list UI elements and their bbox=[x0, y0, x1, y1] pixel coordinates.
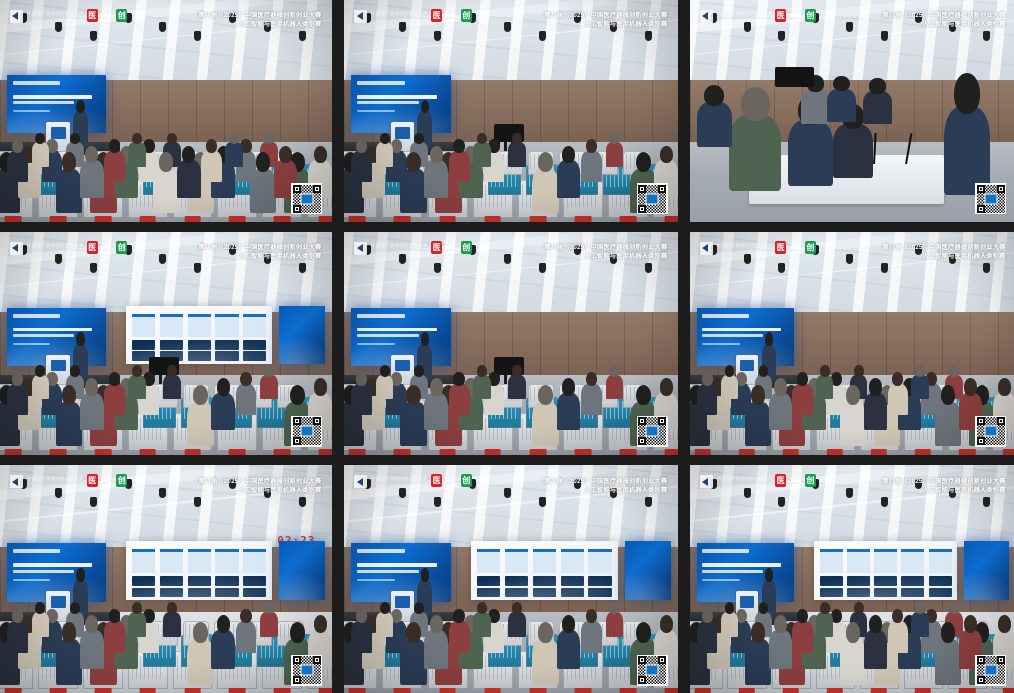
ceiling-spotlight bbox=[229, 479, 236, 489]
person-head bbox=[562, 615, 575, 633]
person-head bbox=[453, 609, 465, 624]
person-head bbox=[264, 133, 274, 144]
ceiling-spotlight bbox=[125, 245, 132, 255]
audience-person bbox=[308, 630, 332, 669]
chair-number-tag bbox=[1003, 688, 1014, 693]
slide-thumbnail bbox=[929, 576, 952, 586]
ceiling-spotlight bbox=[264, 22, 271, 32]
ceiling-spotlight bbox=[778, 31, 785, 41]
chair-number-tag bbox=[959, 688, 975, 693]
person-head bbox=[217, 615, 230, 633]
chair-number-tag bbox=[50, 688, 67, 693]
person-head bbox=[477, 365, 487, 376]
ceiling-spotlight bbox=[364, 245, 371, 255]
slide-thumbnail bbox=[215, 340, 238, 349]
person-head bbox=[85, 615, 98, 633]
slide-column-card bbox=[820, 549, 843, 573]
chair-number-tag bbox=[619, 688, 636, 693]
person-head bbox=[702, 372, 713, 386]
slide-thumbnail bbox=[160, 576, 183, 586]
audience-person bbox=[7, 151, 28, 182]
ceiling-spotlight bbox=[881, 497, 888, 507]
audience-person bbox=[376, 375, 394, 400]
person-head bbox=[132, 365, 142, 376]
ceiling-spotlight bbox=[778, 497, 785, 507]
person-head bbox=[512, 365, 522, 376]
gallery-photo[interactable]: 中国医疗器械创新创业大赛China Medical Device Innovat… bbox=[0, 232, 332, 455]
audience-person bbox=[697, 102, 733, 146]
chair-number-tag bbox=[827, 688, 843, 693]
screen-text-line bbox=[13, 110, 51, 112]
person-head bbox=[512, 133, 522, 144]
person-head bbox=[62, 622, 77, 643]
person-head bbox=[759, 365, 769, 376]
slide-column-card bbox=[243, 549, 266, 573]
chair-number-tag bbox=[274, 688, 291, 693]
person-head bbox=[774, 615, 787, 633]
ceiling-spotlight bbox=[229, 13, 236, 23]
ceiling-spotlight bbox=[434, 263, 441, 273]
screen-text-line bbox=[13, 328, 93, 331]
chair-number-tag bbox=[619, 449, 636, 455]
person-head bbox=[797, 609, 808, 624]
slide-thumbnail bbox=[820, 588, 843, 598]
slide-thumbnail bbox=[588, 588, 612, 598]
audience-person bbox=[128, 142, 146, 166]
ceiling-spotlight bbox=[434, 497, 441, 507]
slide-thumbnail bbox=[243, 351, 266, 360]
gallery-photo[interactable]: 中国医疗器械创新创业大赛China Medical Device Innovat… bbox=[344, 465, 678, 693]
slide-thumbnail bbox=[215, 576, 238, 586]
audience-person bbox=[581, 384, 602, 415]
slide-thumbnail bbox=[847, 588, 870, 598]
chair-number-tag bbox=[665, 216, 678, 222]
person-head bbox=[430, 615, 443, 633]
ceiling-spotlight bbox=[434, 31, 441, 41]
person-head bbox=[702, 609, 713, 624]
gallery-photo[interactable]: 中国医疗器械创新创业大赛China Medical Device Innovat… bbox=[0, 0, 332, 222]
person-head bbox=[751, 385, 766, 406]
person-head bbox=[477, 133, 487, 144]
audience-person bbox=[128, 612, 146, 637]
slide-thumbnail bbox=[132, 588, 155, 598]
speaker-head bbox=[421, 568, 430, 582]
chair-number-tag bbox=[783, 688, 799, 693]
chair-number-tag bbox=[349, 688, 366, 693]
audience-person bbox=[187, 402, 214, 447]
photo-scene bbox=[690, 0, 1014, 222]
person-head bbox=[964, 615, 977, 633]
slide-column-card bbox=[188, 549, 211, 573]
audience-person bbox=[211, 630, 235, 669]
ceiling-spotlight bbox=[881, 31, 888, 41]
screen-text-line bbox=[357, 334, 419, 337]
screen-text-line bbox=[357, 570, 419, 573]
audience-person bbox=[606, 142, 624, 166]
chair-number-tag bbox=[349, 449, 366, 455]
audience-person bbox=[424, 160, 448, 198]
person-head bbox=[660, 378, 673, 395]
person-head bbox=[167, 365, 177, 376]
screen-text-line bbox=[357, 81, 405, 85]
slide-thumbnail bbox=[588, 576, 612, 586]
ceiling-spotlight bbox=[399, 254, 406, 264]
person-head bbox=[62, 385, 77, 406]
chair-number-tag bbox=[95, 449, 112, 455]
person-head bbox=[725, 602, 735, 614]
chair-number-tag bbox=[139, 688, 156, 693]
ceiling-spotlight bbox=[915, 245, 922, 255]
slide-column-card bbox=[215, 549, 238, 573]
ceiling-spotlight bbox=[504, 488, 511, 498]
chair-number-tag bbox=[959, 449, 975, 455]
audience-person bbox=[177, 160, 201, 198]
ceiling-spotlight bbox=[645, 31, 652, 41]
ceiling-spotlight bbox=[610, 488, 617, 498]
ceiling-spotlight bbox=[159, 488, 166, 498]
audience-person bbox=[508, 142, 526, 166]
audience-person bbox=[201, 151, 222, 182]
audience-person bbox=[816, 612, 833, 637]
photo-scene bbox=[344, 232, 678, 455]
audience-person bbox=[400, 639, 427, 685]
audience-person bbox=[532, 639, 559, 685]
person-head bbox=[941, 622, 956, 643]
person-head bbox=[35, 133, 45, 144]
audience-person bbox=[745, 639, 771, 685]
ceiling-spotlight bbox=[710, 13, 717, 23]
video-camera bbox=[775, 67, 814, 87]
person-head bbox=[512, 602, 522, 614]
gallery-photo[interactable]: 02:23中国医疗器械创新创业大赛China Medical Device In… bbox=[0, 465, 332, 693]
person-head bbox=[406, 385, 421, 406]
chair-number-tag bbox=[619, 216, 636, 222]
screen-text-line bbox=[13, 579, 51, 581]
slide-thumbnail bbox=[820, 576, 843, 586]
slide-column-card bbox=[160, 314, 183, 337]
chair-number-tag bbox=[871, 688, 887, 693]
audience-person bbox=[792, 621, 812, 653]
ceiling-spotlight bbox=[194, 497, 201, 507]
ceiling-spotlight bbox=[364, 13, 371, 23]
slide-thumbnail bbox=[215, 588, 238, 598]
ceiling-spotlight bbox=[881, 263, 888, 273]
audience-person bbox=[581, 621, 602, 653]
ceiling-spotlight bbox=[299, 263, 306, 273]
audience-person bbox=[935, 402, 961, 447]
audience-person bbox=[654, 393, 678, 431]
audience-person bbox=[449, 384, 470, 415]
person-head bbox=[869, 378, 882, 395]
screen-text-line bbox=[702, 563, 780, 567]
audience-person bbox=[697, 384, 717, 415]
audience-person bbox=[424, 630, 448, 669]
ceiling-spotlight bbox=[744, 254, 751, 264]
audience-person bbox=[376, 142, 394, 166]
screen-text-line bbox=[13, 343, 51, 345]
chair-number-tag bbox=[394, 216, 411, 222]
audience-person bbox=[308, 160, 332, 198]
person-head bbox=[229, 133, 239, 144]
person-head bbox=[915, 365, 925, 376]
chair-number-tag bbox=[484, 688, 501, 693]
presentation-slide-screen bbox=[126, 541, 272, 601]
slide-thumbnail bbox=[847, 576, 870, 586]
audience-person bbox=[473, 375, 491, 400]
ceiling-spotlight bbox=[744, 488, 751, 498]
chair-number-tag bbox=[665, 449, 678, 455]
person-head bbox=[70, 365, 80, 376]
person-head bbox=[562, 378, 575, 395]
chair-number-tag bbox=[484, 216, 501, 222]
person-head bbox=[217, 378, 230, 395]
ceiling-spotlight bbox=[55, 22, 62, 32]
ceiling-spotlight bbox=[744, 22, 751, 32]
photo-scene bbox=[690, 232, 1014, 455]
chair-number-tag bbox=[319, 449, 332, 455]
gallery-photo[interactable]: 中国医疗器械创新创业大赛China Medical Device Innovat… bbox=[344, 232, 678, 455]
person-head bbox=[62, 152, 77, 172]
audience-person bbox=[449, 621, 470, 653]
ceiling-spotlight bbox=[539, 31, 546, 41]
audience-person bbox=[864, 630, 887, 669]
audience-person bbox=[911, 612, 928, 637]
ceiling-spotlight bbox=[20, 479, 27, 489]
audience-person bbox=[351, 621, 372, 653]
audience-person bbox=[351, 384, 372, 415]
person-head bbox=[833, 76, 849, 91]
audience-person bbox=[557, 393, 581, 431]
person-head bbox=[240, 372, 252, 386]
audience-person bbox=[351, 151, 372, 182]
presentation-slide-screen bbox=[814, 541, 957, 601]
person-head bbox=[453, 139, 465, 153]
audience-person bbox=[769, 393, 792, 431]
gallery-photo[interactable]: 中国医疗器械创新创业大赛China Medical Device Innovat… bbox=[344, 0, 678, 222]
audience-person bbox=[260, 375, 278, 400]
audience-person bbox=[104, 384, 125, 415]
person-head bbox=[414, 602, 424, 614]
audience-person bbox=[424, 393, 448, 431]
presentation-slide-screen bbox=[471, 541, 618, 601]
person-head bbox=[586, 372, 598, 386]
slide-column-card bbox=[533, 549, 557, 573]
audience-person bbox=[56, 639, 83, 685]
screen-text-line bbox=[357, 343, 395, 345]
ceiling-spotlight bbox=[574, 479, 581, 489]
chair-number-tag bbox=[915, 688, 931, 693]
audience-person bbox=[557, 630, 581, 669]
ceiling-spotlight bbox=[399, 22, 406, 32]
screen-text-line bbox=[702, 549, 749, 553]
ceiling-spotlight bbox=[20, 13, 27, 23]
person-head bbox=[751, 622, 766, 643]
chair-number-tag bbox=[394, 688, 411, 693]
person-head bbox=[954, 73, 980, 114]
ceiling-spotlight bbox=[710, 245, 717, 255]
side-led-screen bbox=[625, 541, 672, 601]
ceiling-spotlight bbox=[90, 31, 97, 41]
chair-number-tag bbox=[229, 688, 246, 693]
gallery-photo[interactable]: 中国医疗器械创新创业大赛China Medical Device Innovat… bbox=[690, 232, 1014, 455]
person-head bbox=[406, 152, 421, 172]
person-head bbox=[290, 385, 305, 406]
ceiling-spotlight bbox=[778, 263, 785, 273]
photo-scene: 02:23 bbox=[0, 465, 332, 693]
person-head bbox=[380, 365, 390, 376]
audience-person bbox=[400, 169, 427, 213]
photo-scene bbox=[0, 232, 332, 455]
chair-number-tag bbox=[5, 688, 22, 693]
person-head bbox=[12, 372, 24, 386]
person-head bbox=[846, 385, 861, 406]
person-head bbox=[380, 602, 390, 614]
screen-text-line bbox=[702, 343, 739, 345]
ceiling-spotlight bbox=[610, 22, 617, 32]
ceiling-spotlight bbox=[194, 31, 201, 41]
person-head bbox=[430, 378, 443, 395]
chair-number-tag bbox=[95, 688, 112, 693]
person-head bbox=[264, 602, 274, 614]
chair-number-tag bbox=[184, 688, 201, 693]
speaker-head bbox=[76, 568, 85, 582]
audience-person bbox=[211, 393, 235, 431]
audience-person bbox=[581, 151, 602, 182]
chair-number-tag bbox=[529, 216, 546, 222]
chair-number-tag bbox=[529, 449, 546, 455]
slide-thumbnail bbox=[132, 576, 155, 586]
audience-person bbox=[80, 630, 104, 669]
ceiling-spotlight bbox=[915, 479, 922, 489]
audience-person bbox=[840, 639, 866, 685]
person-head bbox=[797, 372, 808, 386]
side-led-screen bbox=[279, 541, 325, 601]
screen-text-line bbox=[13, 314, 61, 318]
person-head bbox=[538, 385, 553, 406]
photo-gallery-grid: 中国医疗器械创新创业大赛China Medical Device Innovat… bbox=[0, 0, 1014, 693]
person-head bbox=[609, 365, 619, 376]
audience-person bbox=[959, 393, 982, 431]
audience-person bbox=[508, 375, 526, 400]
slide-thumbnail bbox=[132, 340, 155, 349]
audience-person bbox=[697, 621, 717, 653]
audience-person bbox=[128, 375, 146, 400]
audience-person bbox=[56, 169, 83, 213]
chair-number-tag bbox=[871, 449, 887, 455]
audience-person bbox=[993, 630, 1014, 669]
slide-thumbnail bbox=[160, 588, 183, 598]
person-head bbox=[414, 133, 424, 144]
slide-thumbnail bbox=[243, 576, 266, 586]
chair-number-tag bbox=[184, 449, 201, 455]
slide-column-card bbox=[588, 549, 612, 573]
person-head bbox=[85, 378, 98, 395]
audience-person bbox=[788, 120, 834, 187]
audience-person bbox=[274, 160, 298, 198]
person-head bbox=[725, 365, 735, 376]
slide-thumbnail bbox=[160, 340, 183, 349]
side-led-screen bbox=[279, 306, 325, 364]
person-head bbox=[609, 602, 619, 614]
person-head bbox=[741, 87, 770, 122]
slide-column-card bbox=[561, 549, 585, 573]
slide-thumbnail bbox=[477, 588, 501, 598]
audience-person bbox=[508, 612, 526, 637]
ceiling-spotlight bbox=[229, 245, 236, 255]
ceiling-spotlight bbox=[710, 479, 717, 489]
screen-text-line bbox=[13, 334, 75, 337]
gallery-photo[interactable]: 中国医疗器械创新创业大赛China Medical Device Innovat… bbox=[690, 0, 1014, 222]
audience-person bbox=[944, 107, 990, 196]
audience-person bbox=[80, 393, 104, 431]
person-head bbox=[264, 365, 274, 376]
ceiling-spotlight bbox=[399, 488, 406, 498]
slide-thumbnail bbox=[533, 588, 557, 598]
ceiling-spotlight bbox=[610, 254, 617, 264]
slide-column-card bbox=[160, 549, 183, 573]
chair-number-tag bbox=[484, 449, 501, 455]
audience-person bbox=[225, 142, 243, 166]
audience-person bbox=[827, 89, 856, 122]
slide-thumbnail bbox=[561, 576, 585, 586]
person-head bbox=[256, 152, 271, 172]
ceiling-spotlight bbox=[539, 497, 546, 507]
slide-thumbnail bbox=[215, 351, 238, 360]
person-head bbox=[915, 602, 925, 614]
chair-number-tag bbox=[574, 216, 591, 222]
person-head bbox=[998, 378, 1011, 395]
slide-thumbnail bbox=[901, 576, 924, 586]
presentation-slide-screen bbox=[126, 306, 272, 364]
slide-thumbnail bbox=[505, 588, 529, 598]
screen-text-line bbox=[702, 328, 780, 331]
person-head bbox=[70, 133, 80, 144]
audience-person bbox=[792, 384, 812, 415]
slide-column-card bbox=[215, 314, 238, 337]
slide-column-card bbox=[847, 549, 870, 573]
screen-text-line bbox=[357, 101, 419, 104]
person-head bbox=[167, 133, 177, 144]
ceiling-spotlight bbox=[299, 497, 306, 507]
audience-person bbox=[7, 384, 28, 415]
slide-thumbnail bbox=[188, 588, 211, 598]
person-head bbox=[998, 615, 1011, 633]
audience-person bbox=[32, 142, 50, 166]
person-head bbox=[109, 609, 121, 624]
slide-column-card bbox=[243, 314, 266, 337]
slide-thumbnail bbox=[505, 576, 529, 586]
person-head bbox=[406, 622, 421, 643]
slide-column-card bbox=[132, 549, 155, 573]
chair-number-tag bbox=[319, 216, 332, 222]
speaker-head bbox=[421, 332, 430, 345]
chair-number-tag bbox=[439, 688, 456, 693]
gallery-photo[interactable]: 中国医疗器械创新创业大赛China Medical Device Innovat… bbox=[690, 465, 1014, 693]
person-head bbox=[35, 602, 45, 614]
person-head bbox=[132, 602, 142, 614]
speaker-head bbox=[76, 332, 85, 345]
person-head bbox=[159, 152, 174, 172]
slide-thumbnail bbox=[243, 340, 266, 349]
slide-column-card bbox=[505, 549, 529, 573]
ceiling-spotlight bbox=[90, 263, 97, 273]
audience-person bbox=[911, 375, 928, 400]
photo-scene bbox=[0, 0, 332, 222]
audience-person bbox=[7, 621, 28, 653]
person-head bbox=[453, 372, 465, 386]
side-led-screen bbox=[964, 541, 1010, 601]
photo-scene bbox=[690, 465, 1014, 693]
